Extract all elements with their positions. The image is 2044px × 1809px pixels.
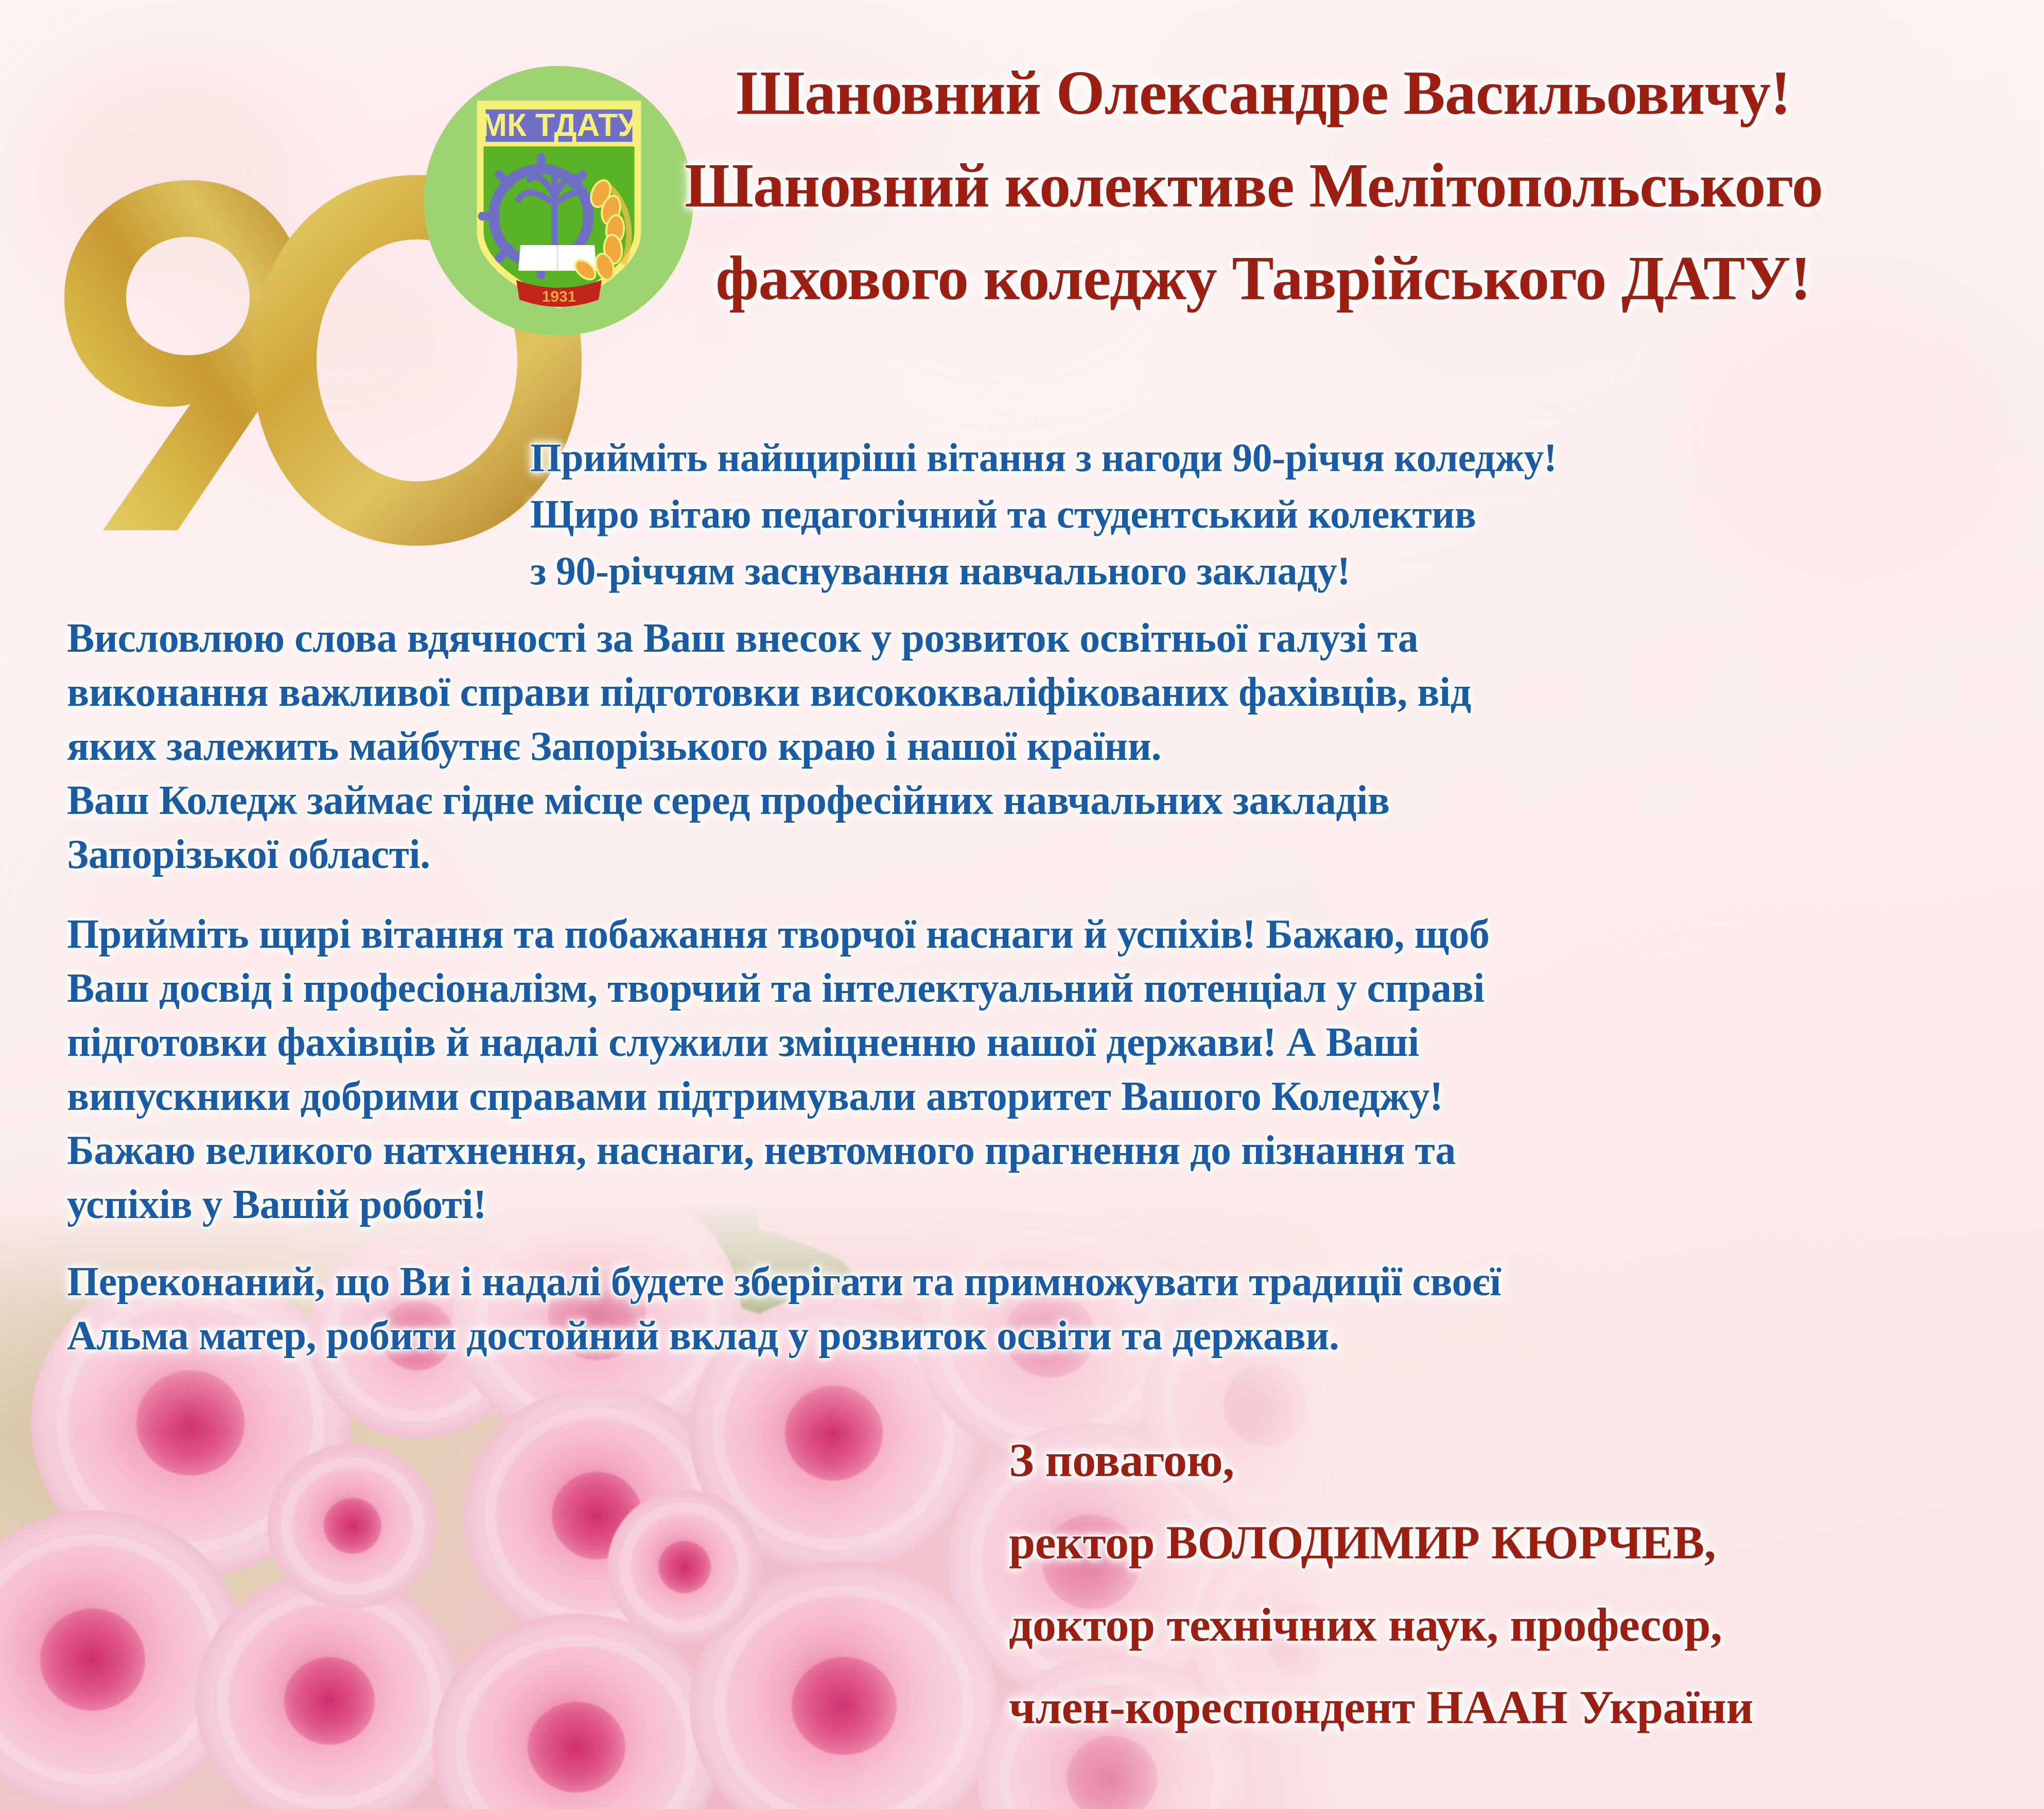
- intro-line-1: Прийміть найщиріші вітання з нагоди 90-р…: [530, 438, 1557, 478]
- intro-line-2: Щиро вітаю педагогічний та студентський …: [530, 494, 1476, 534]
- emblem-band-text: МК ТДАТУ: [480, 108, 638, 143]
- heading-line-2: Шановний колективе Мелітопольського: [685, 154, 1823, 217]
- rose-bud: [268, 1443, 438, 1608]
- paragraph2-line-3: підготовки фахівців й надалі служили змі…: [67, 1022, 1419, 1063]
- ribbon-year: 1931: [542, 288, 576, 305]
- signature-line-3: доктор технічних наук, професор,: [1009, 1601, 1722, 1648]
- intro-line-3: з 90-річчям заснування навчального закла…: [530, 551, 1350, 591]
- paragraph3-line-1: Переконаний, що Ви і надалі будете збері…: [67, 1261, 1501, 1302]
- paragraph1-line-3: яких залежить майбутнє Запорізького краю…: [67, 726, 1161, 767]
- heading-line-3: фахового коледжу Таврійського ДАТУ!: [715, 247, 1811, 310]
- background-floral-blur: [1673, 278, 2033, 597]
- signature-line-4: член-кореспондент НААН України: [1009, 1683, 1753, 1731]
- paragraph2-line-4: випускники добрими справами підтримували…: [67, 1076, 1443, 1117]
- paragraph1-line-2: виконання важливої справи підготовки вис…: [67, 672, 1471, 713]
- background-floral-blur: [1493, 875, 1956, 1236]
- paragraph1-line-1: Висловлюю слова вдячності за Ваш внесок …: [67, 618, 1418, 659]
- paragraph2-line-1: Прийміть щирі вітання та побажання творч…: [67, 914, 1490, 955]
- signature-line-2: ректор ВОЛОДИМИР КЮРЧЕВ,: [1009, 1519, 1716, 1566]
- congratulation-poster: МК ТДАТУ: [0, 0, 2044, 1809]
- signature-line-1: З повагою,: [1009, 1436, 1234, 1484]
- paragraph2-line-2: Ваш досвід і професіоналізм, творчий та …: [67, 968, 1484, 1009]
- paragraph1-line-5: Запорізької області.: [67, 834, 430, 875]
- mk-tdatu-emblem-logo: МК ТДАТУ: [420, 62, 697, 340]
- paragraph3-line-2: Альма матер, робити достойний вклад у ро…: [67, 1315, 1339, 1356]
- paragraph1-line-4: Ваш Коледж займає гідне місце серед проф…: [67, 780, 1390, 821]
- paragraph2-line-6: успіхів у Вашій роботі!: [67, 1184, 486, 1225]
- rose-bud: [607, 1490, 762, 1644]
- paragraph2-line-5: Бажаю великого натхнення, наснаги, невто…: [67, 1130, 1456, 1171]
- heading-line-1: Шановний Олександре Васильовичу!: [736, 62, 1791, 125]
